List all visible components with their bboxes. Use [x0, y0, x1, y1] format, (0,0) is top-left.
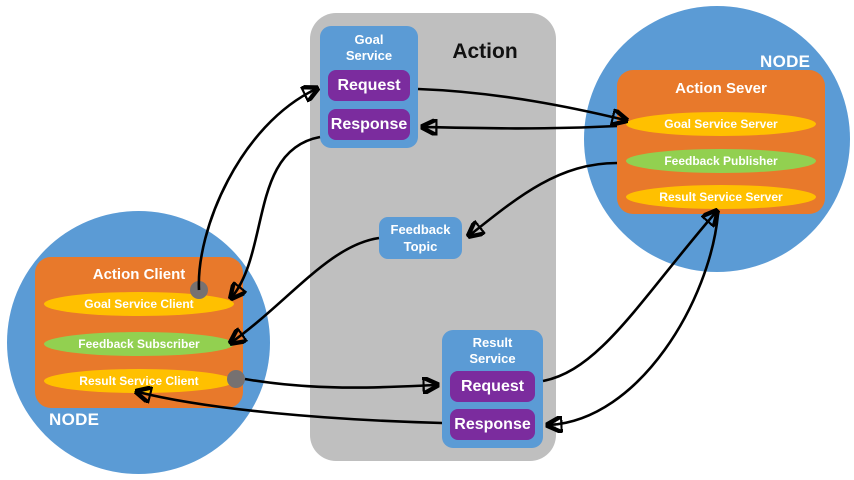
arrow-goal-response-server-to-service [424, 126, 617, 128]
arrow-layer [0, 0, 854, 480]
arrow-result-request-service-to-server [543, 212, 716, 381]
arrow-feedback-topic-to-subscriber [232, 238, 379, 342]
diagram-canvas: Action Goal Service Request Response Fee… [0, 0, 854, 480]
arrow-goal-response-service-to-client [232, 137, 320, 297]
arrow-result-response-service-to-client [138, 392, 442, 423]
arrow-result-response-server-to-service [549, 214, 718, 425]
arrow-goal-request-service-to-server [418, 89, 625, 120]
arrow-feedback-publisher-to-topic [470, 163, 617, 235]
arrow-goal-request-client-to-service [199, 89, 316, 290]
arrow-result-request-client-to-service [245, 379, 436, 388]
